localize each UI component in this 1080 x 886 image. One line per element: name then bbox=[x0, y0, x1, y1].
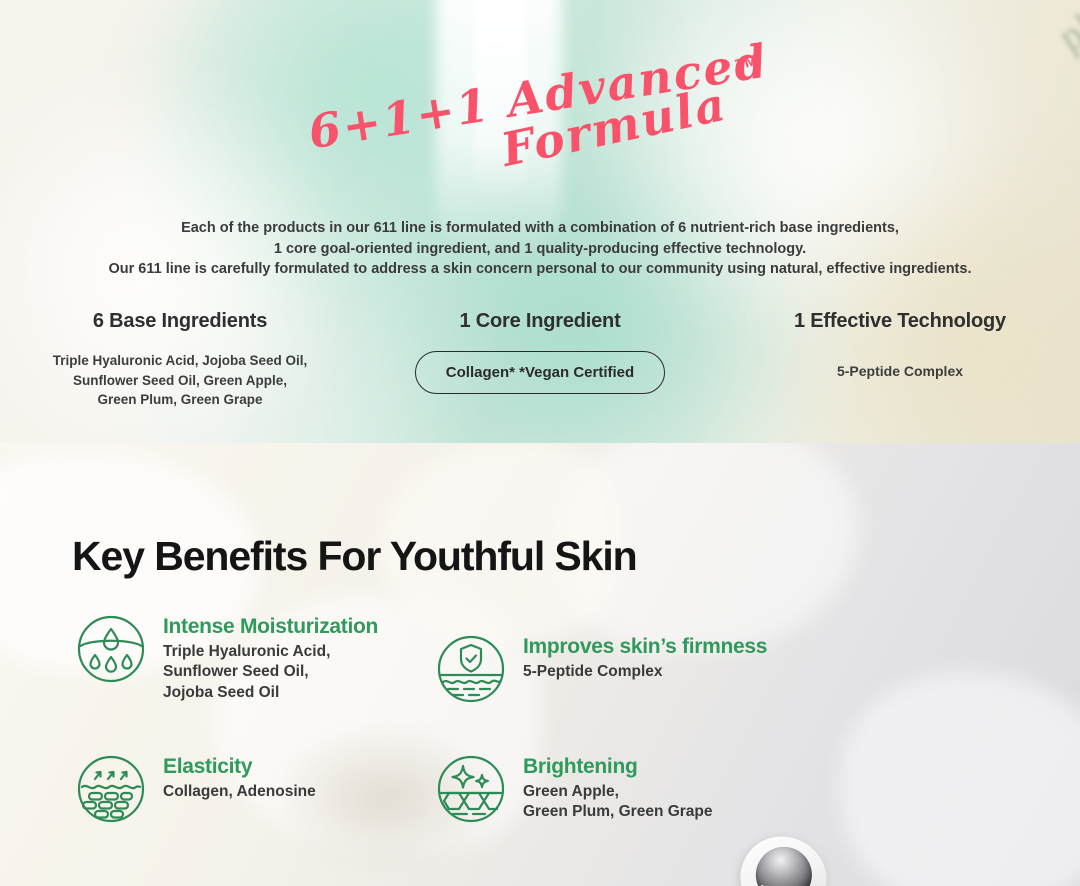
formula-section: ple ide 6+1+1 Advanced Formula TM Each o… bbox=[0, 0, 1080, 443]
sparkle-cells-icon bbox=[435, 753, 507, 825]
benefits-title: Key Benefits For Youthful Skin bbox=[72, 533, 637, 580]
formula-description-line-2: 1 core goal-oriented ingredient, and 1 q… bbox=[0, 239, 1080, 260]
benefit-heading: Intense Moisturization bbox=[163, 615, 378, 639]
water-drops-icon bbox=[75, 613, 147, 685]
formula-description: Each of the products in our 611 line is … bbox=[0, 218, 1080, 280]
column-base-ingredients: 6 Base Ingredients Triple Hyaluronic Aci… bbox=[0, 310, 360, 410]
column-title: 1 Core Ingredient bbox=[374, 310, 706, 333]
formula-columns: 6 Base Ingredients Triple Hyaluronic Aci… bbox=[0, 310, 1080, 410]
core-ingredient-pill: Collagen* *Vegan Certified bbox=[415, 351, 665, 394]
benefit-item: Brightening Green Apple, Green Plum, Gre… bbox=[435, 753, 825, 825]
column-body: Triple Hyaluronic Acid, Jojoba Seed Oil,… bbox=[14, 351, 346, 410]
benefit-description: Collagen, Adenosine bbox=[163, 782, 316, 802]
benefit-text: Intense Moisturization Triple Hyaluronic… bbox=[163, 613, 378, 703]
benefit-description: 5-Peptide Complex bbox=[523, 662, 767, 682]
benefits-section: Key Benefits For Youthful Skin Intense M… bbox=[0, 443, 1080, 886]
benefit-text: Improves skin’s firmness 5-Peptide Compl… bbox=[523, 633, 767, 682]
benefit-heading: Brightening bbox=[523, 755, 713, 779]
benefit-heading: Elasticity bbox=[163, 755, 316, 779]
column-core-ingredient: 1 Core Ingredient Collagen* *Vegan Certi… bbox=[360, 310, 720, 410]
benefit-text: Brightening Green Apple, Green Plum, Gre… bbox=[523, 753, 713, 823]
product-marketing-page: ple ide 6+1+1 Advanced Formula TM Each o… bbox=[0, 0, 1080, 886]
formula-description-line-1: Each of the products in our 611 line is … bbox=[0, 218, 1080, 239]
column-effective-technology: 1 Effective Technology 5-Peptide Complex bbox=[720, 310, 1080, 410]
column-title: 6 Base Ingredients bbox=[14, 310, 346, 333]
benefit-item: Improves skin’s firmness 5-Peptide Compl… bbox=[435, 633, 825, 705]
benefit-text: Elasticity Collagen, Adenosine bbox=[163, 753, 316, 802]
benefit-description: Green Apple, Green Plum, Green Grape bbox=[523, 782, 713, 823]
ice-shard bbox=[840, 673, 1080, 886]
benefit-heading: Improves skin’s firmness bbox=[523, 635, 767, 659]
base-ingredients-line-1: Triple Hyaluronic Acid, Jojoba Seed Oil, bbox=[14, 351, 346, 371]
benefit-item: Intense Moisturization Triple Hyaluronic… bbox=[75, 613, 445, 703]
benefit-description-line: Sunflower Seed Oil, bbox=[163, 662, 378, 682]
column-title: 1 Effective Technology bbox=[734, 310, 1066, 333]
shield-check-icon bbox=[435, 633, 507, 705]
benefit-description-line: Jojoba Seed Oil bbox=[163, 683, 378, 703]
benefit-description-line: Green Apple, bbox=[523, 782, 713, 802]
benefit-description-line: Green Plum, Green Grape bbox=[523, 802, 713, 822]
up-arrows-bricks-icon bbox=[75, 753, 147, 825]
base-ingredients-line-3: Green Plum, Green Grape bbox=[14, 390, 346, 410]
effective-technology-value: 5-Peptide Complex bbox=[734, 351, 1066, 379]
benefit-description: Triple Hyaluronic Acid, Sunflower Seed O… bbox=[163, 642, 378, 703]
benefit-description-line: Triple Hyaluronic Acid, bbox=[163, 642, 378, 662]
benefit-description-line: 5-Peptide Complex bbox=[523, 662, 767, 682]
benefit-description-line: Collagen, Adenosine bbox=[163, 782, 316, 802]
formula-description-line-3: Our 611 line is carefully formulated to … bbox=[0, 259, 1080, 280]
base-ingredients-line-2: Sunflower Seed Oil, Green Apple, bbox=[14, 371, 346, 391]
benefit-item: Elasticity Collagen, Adenosine bbox=[75, 753, 445, 825]
